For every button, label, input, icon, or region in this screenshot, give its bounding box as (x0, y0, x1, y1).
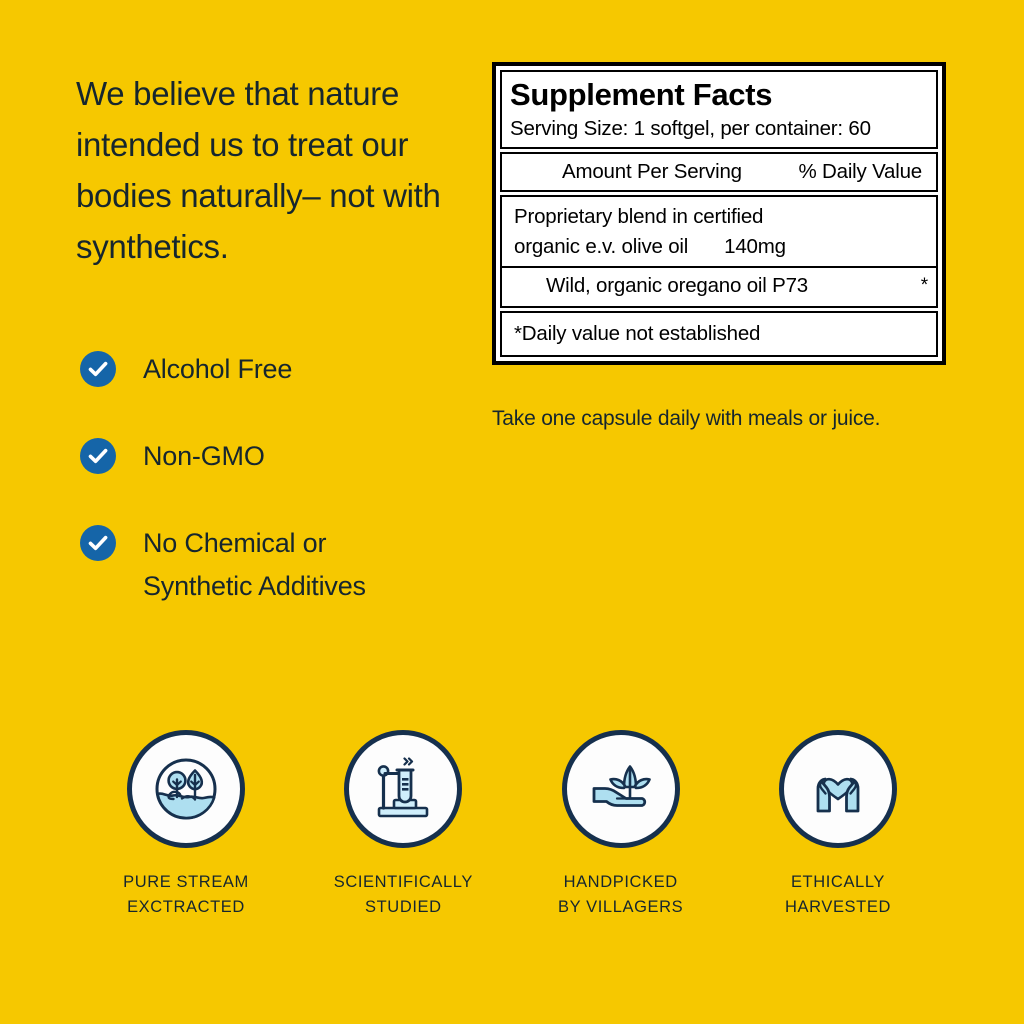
daily-value-footnote: *Daily value not established (510, 315, 928, 353)
trees-stream-icon (149, 752, 223, 826)
hands-heart-icon (801, 752, 875, 826)
test-tube-stand-icon (366, 752, 440, 826)
list-item: Non-GMO (80, 435, 500, 478)
trust-badges: PURE STREAM EXCTRACTED SCIENTIFICALLY ST… (86, 730, 938, 920)
badge-circle (344, 730, 462, 848)
badge-handpicked-by-villagers: HANDPICKED BY VILLAGERS (521, 730, 721, 920)
sub-ingredient-daily-value: * (921, 270, 928, 301)
serving-size-line: Serving Size: 1 softgel, per container: … (510, 114, 928, 145)
list-item-label: No Chemical or Synthetic Additives (143, 522, 366, 608)
page-headline: We believe that nature intended us to tr… (76, 68, 476, 272)
badge-caption: HANDPICKED BY VILLAGERS (558, 870, 683, 920)
badge-caption: SCIENTIFICALLY STUDIED (334, 870, 473, 920)
benefits-list: Alcohol Free Non-GMO No Chemical or Synt… (80, 348, 500, 608)
blend-name-line-1: Proprietary blend in certified (514, 205, 763, 228)
blend-row: Proprietary blend in certified organic e… (500, 195, 938, 308)
badge-circle (779, 730, 897, 848)
badge-ethically-harvested: ETHICALLY HARVESTED (738, 730, 938, 920)
footnote-row: *Daily value not established (500, 311, 938, 357)
directions-text: Take one capsule daily with meals or jui… (492, 404, 880, 434)
hand-plant-icon (584, 752, 658, 826)
check-circle-icon (80, 438, 116, 474)
supplement-facts-panel: Supplement Facts Serving Size: 1 softgel… (492, 62, 946, 365)
sub-ingredient-name: Wild, organic oregano oil P73 (546, 270, 808, 301)
blend-amount: 140mg (724, 232, 786, 262)
badge-circle (562, 730, 680, 848)
badge-pure-stream-extracted: PURE STREAM EXCTRACTED (86, 730, 286, 920)
amount-per-serving-header: Amount Per Serving (562, 156, 742, 188)
badge-caption: ETHICALLY HARVESTED (785, 870, 891, 920)
column-header-row: Amount Per Serving % Daily Value (500, 152, 938, 192)
list-item-label: Alcohol Free (143, 348, 292, 391)
check-circle-icon (80, 351, 116, 387)
list-item-label: Non-GMO (143, 435, 265, 478)
list-item: No Chemical or Synthetic Additives (80, 522, 500, 608)
check-circle-icon (80, 525, 116, 561)
daily-value-header: % Daily Value (799, 156, 923, 188)
list-item: Alcohol Free (80, 348, 500, 391)
blend-name-line-2: organic e.v. olive oil (514, 235, 688, 258)
supplement-facts-header: Supplement Facts Serving Size: 1 softgel… (500, 70, 938, 149)
badge-scientifically-studied: SCIENTIFICALLY STUDIED (303, 730, 503, 920)
badge-circle (127, 730, 245, 848)
panel-title: Supplement Facts (510, 74, 928, 114)
badge-caption: PURE STREAM EXCTRACTED (123, 870, 249, 920)
